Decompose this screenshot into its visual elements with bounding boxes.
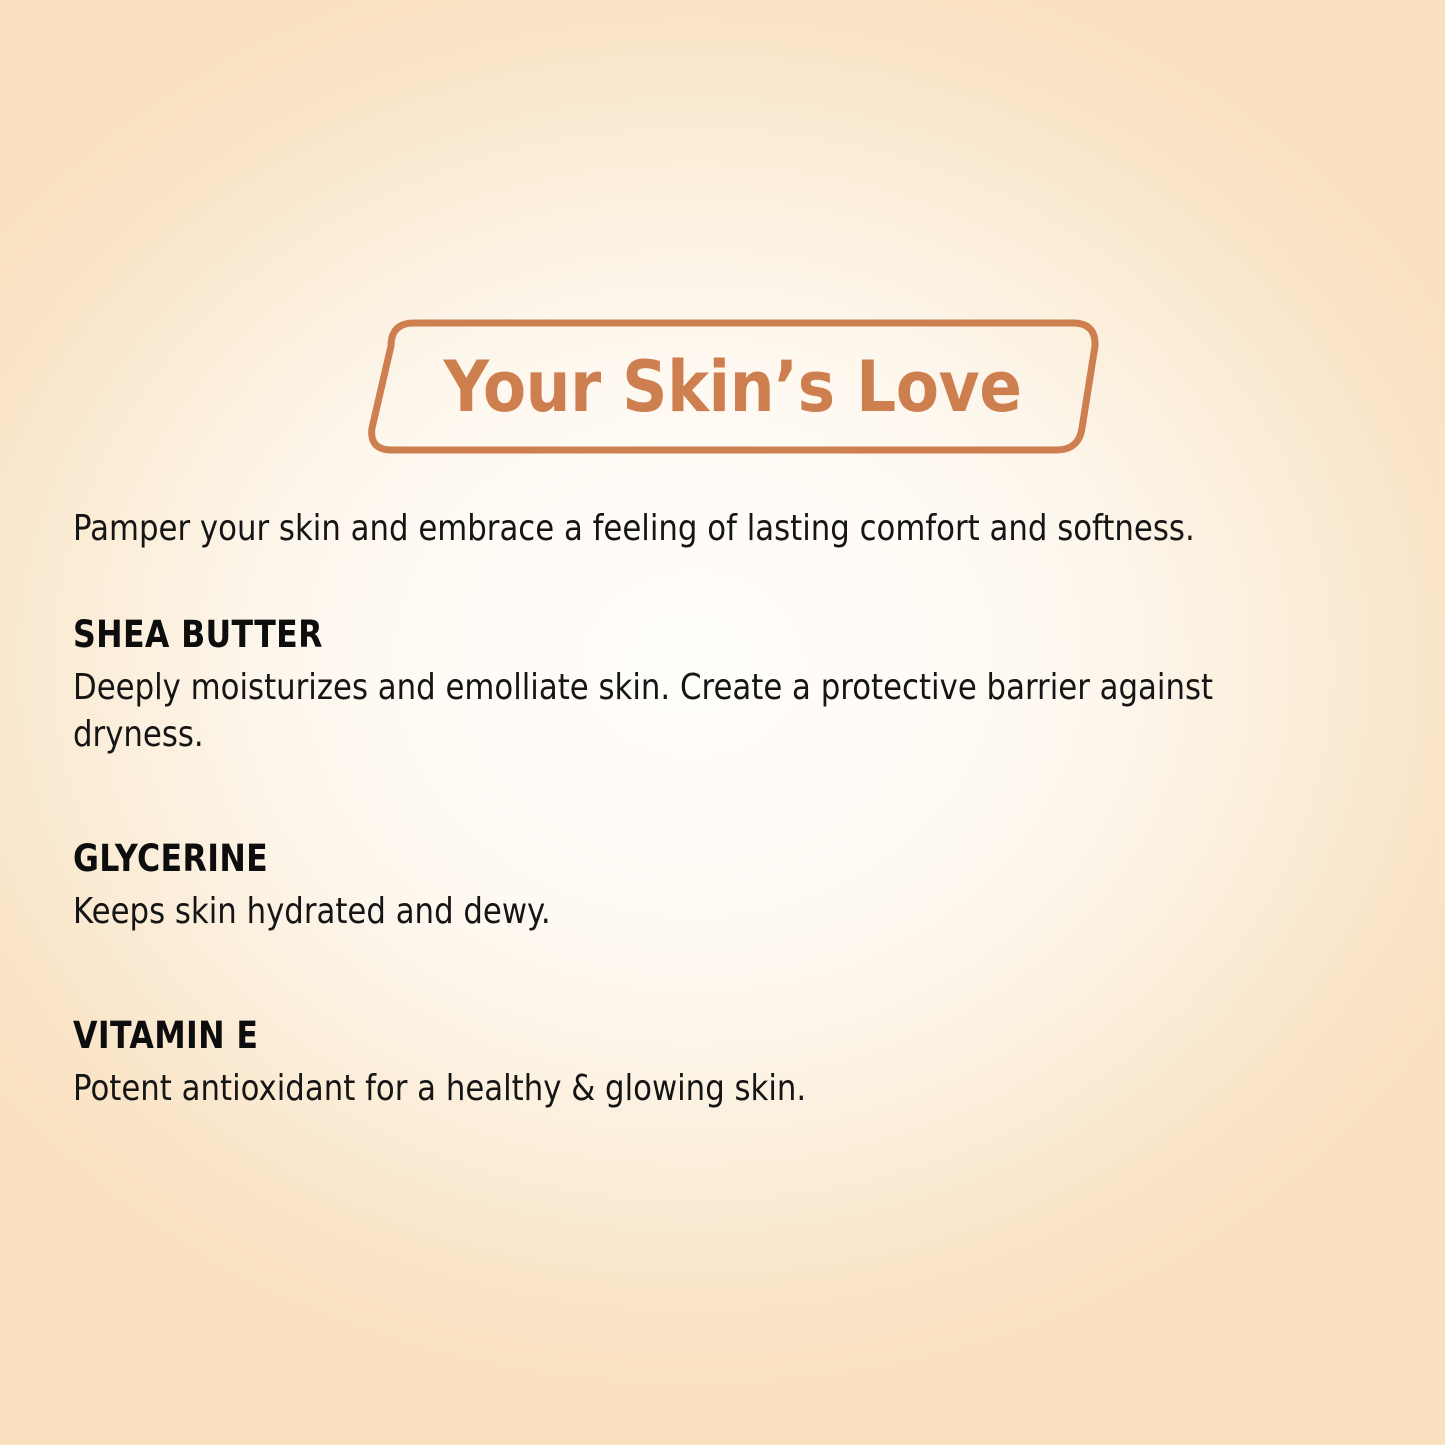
ingredient-description-vitamin-e: Potent antioxidant for a healthy & glowi… bbox=[73, 1065, 1296, 1113]
ingredient-item: GLYCERINE Keeps skin hydrated and dewy. bbox=[73, 837, 1373, 936]
ingredient-name-glycerine: GLYCERINE bbox=[73, 837, 1356, 880]
product-benefits-poster: Your Skin’s Love Pamper your skin and em… bbox=[0, 0, 1445, 1445]
ingredient-description-glycerine: Keeps skin hydrated and dewy. bbox=[73, 888, 1296, 936]
ingredient-name-vitamin-e: VITAMIN E bbox=[73, 1014, 1356, 1057]
ingredient-item: SHEA BUTTER Deeply moisturizes and emoll… bbox=[73, 613, 1373, 760]
badge-title-text: Your Skin’s Love bbox=[393, 312, 1073, 462]
intro-paragraph: Pamper your skin and embrace a feeling o… bbox=[73, 505, 1356, 553]
title-badge: Your Skin’s Love bbox=[355, 312, 1110, 462]
ingredient-name-shea-butter: SHEA BUTTER bbox=[73, 613, 1356, 656]
ingredient-description-shea-butter: Deeply moisturizes and emolliate skin. C… bbox=[73, 664, 1296, 760]
ingredient-item: VITAMIN E Potent antioxidant for a healt… bbox=[73, 1014, 1373, 1113]
content-block: Pamper your skin and embrace a feeling o… bbox=[73, 505, 1373, 1113]
